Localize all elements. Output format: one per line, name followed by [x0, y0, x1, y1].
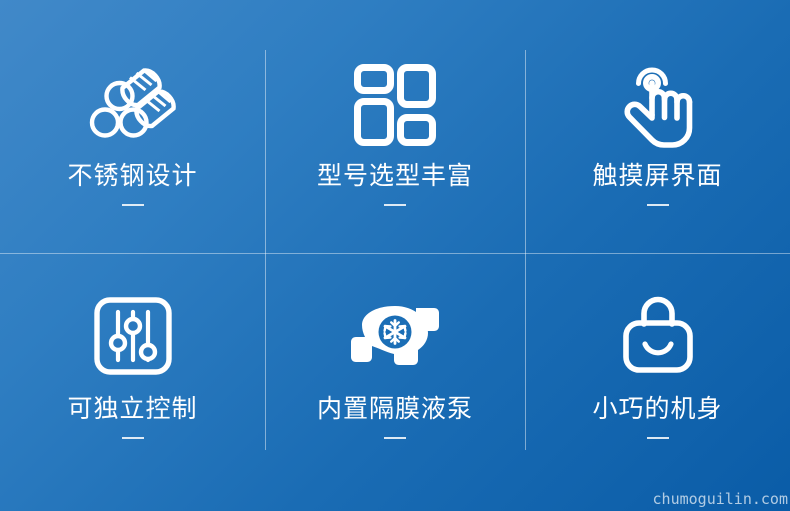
- label-underline-dash: [647, 204, 669, 206]
- feature-label: 内置隔膜液泵: [317, 397, 473, 422]
- label-underline-dash: [122, 204, 144, 206]
- feature-label: 小巧的机身: [592, 397, 722, 422]
- feature-grid: 不锈钢设计 型号选型丰富: [0, 0, 790, 470]
- slider-controls-panel-icon: [93, 295, 173, 377]
- feature-cell-model-variety[interactable]: 型号选型丰富: [265, 0, 525, 253]
- touch-hand-pointer-icon: [619, 62, 697, 148]
- pump-snowflake-icon: [348, 295, 442, 377]
- feature-grid-banner: 不锈钢设计 型号选型丰富: [0, 0, 790, 511]
- feature-cell-independent-control[interactable]: 可独立控制: [0, 253, 265, 470]
- label-underline-dash: [384, 204, 406, 206]
- feature-label: 型号选型丰富: [317, 164, 473, 189]
- feature-cell-diaphragm-pump[interactable]: 内置隔膜液泵: [265, 253, 525, 470]
- feature-label: 可独立控制: [67, 397, 197, 422]
- grid-layout-blocks-icon: [353, 62, 437, 148]
- horizontal-divider: [0, 253, 790, 254]
- stacked-steel-pipes-icon: [89, 62, 177, 148]
- label-underline-dash: [647, 437, 669, 439]
- label-underline-dash: [122, 437, 144, 439]
- site-watermark: chumoguilin.com: [653, 490, 788, 508]
- feature-label: 不锈钢设计: [67, 164, 197, 189]
- vertical-divider-right: [525, 50, 526, 450]
- feature-label: 触摸屏界面: [592, 164, 722, 189]
- compact-bag-icon: [618, 295, 698, 377]
- label-underline-dash: [384, 437, 406, 439]
- feature-cell-compact-body[interactable]: 小巧的机身: [525, 253, 790, 470]
- vertical-divider-left: [265, 50, 266, 450]
- feature-cell-touchscreen[interactable]: 触摸屏界面: [525, 0, 790, 253]
- feature-cell-stainless-steel[interactable]: 不锈钢设计: [0, 0, 265, 253]
